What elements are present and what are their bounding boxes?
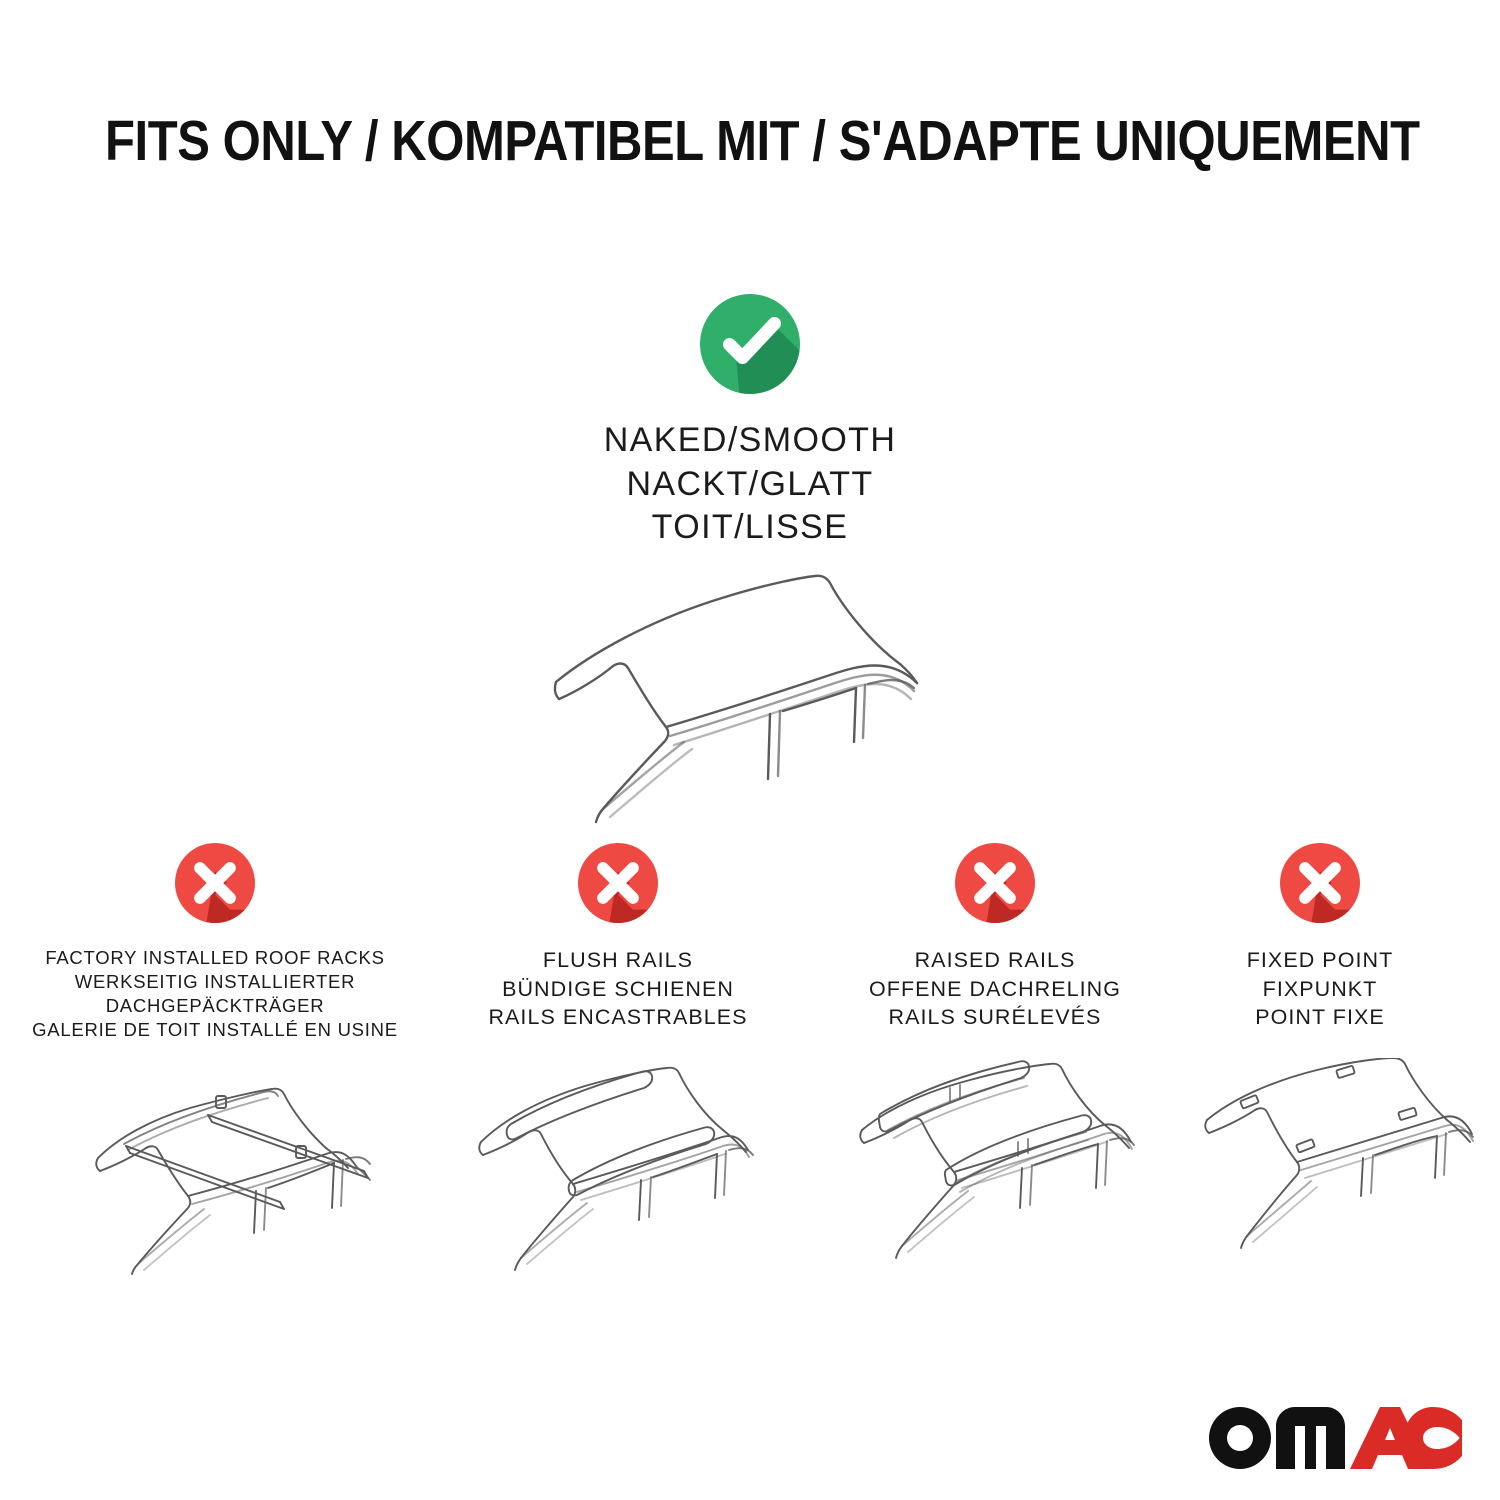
incompatible-caption: FIXED POINT FIXPUNKT POINT FIXE xyxy=(1175,946,1465,1032)
incompatible-caption: RAISED RAILS OFFENE DACHRELING RAILS SUR… xyxy=(815,946,1175,1032)
caption-line-1: FACTORY INSTALLED ROOF RACKS xyxy=(15,946,415,970)
cross-circle-icon xyxy=(15,838,415,934)
cross-circle-icon xyxy=(438,838,798,934)
factory-roof-rack-illustration xyxy=(40,1058,440,1293)
compatible-section: NAKED/SMOOTH NACKT/GLATT TOIT/LISSE xyxy=(0,290,1500,839)
caption-line-3: RAILS SURÉLEVÉS xyxy=(815,1003,1175,1032)
caption-line-4: GALERIE DE TOIT INSTALLÉ EN USINE xyxy=(15,1018,415,1042)
page-title: FITS ONLY / KOMPATIBEL MIT / S'ADAPTE UN… xyxy=(105,108,1395,174)
caption-line-2: OFFENE DACHRELING xyxy=(815,975,1175,1004)
raised-rails-illustration xyxy=(832,1058,1212,1293)
cross-circle-icon xyxy=(815,838,1175,934)
compatible-badge-wrap xyxy=(0,290,1500,403)
caption-line-1: FIXED POINT xyxy=(1175,946,1465,975)
compatible-label-line-2: NACKT/GLATT xyxy=(0,463,1500,507)
check-circle-icon xyxy=(696,290,804,403)
compatible-label-line-3: TOIT/LISSE xyxy=(0,506,1500,550)
compatible-label-line-1: NAKED/SMOOTH xyxy=(0,419,1500,463)
caption-line-2: FIXPUNKT xyxy=(1175,975,1465,1004)
smooth-roof-illustration xyxy=(0,564,1500,839)
caption-line-3: POINT FIXE xyxy=(1175,1003,1465,1032)
caption-line-3: RAILS ENCASTRABLES xyxy=(438,1003,798,1032)
incompatible-item: FLUSH RAILS BÜNDIGE SCHIENEN RAILS ENCAS… xyxy=(438,838,798,1032)
flush-rails-illustration xyxy=(445,1058,825,1293)
caption-line-1: RAISED RAILS xyxy=(815,946,1175,975)
compatible-label: NAKED/SMOOTH NACKT/GLATT TOIT/LISSE xyxy=(0,419,1500,550)
omac-logo: OMAC xyxy=(1204,1396,1464,1476)
incompatible-caption: FACTORY INSTALLED ROOF RACKS WERKSEITIG … xyxy=(15,946,415,1042)
incompatible-caption: FLUSH RAILS BÜNDIGE SCHIENEN RAILS ENCAS… xyxy=(438,946,798,1032)
caption-line-1: FLUSH RAILS xyxy=(438,946,798,975)
incompatible-item: RAISED RAILS OFFENE DACHRELING RAILS SUR… xyxy=(815,838,1175,1032)
infographic-page: FITS ONLY / KOMPATIBEL MIT / S'ADAPTE UN… xyxy=(0,0,1500,1500)
fixed-point-illustration xyxy=(1185,1058,1500,1293)
incompatible-item: FIXED POINT FIXPUNKT POINT FIXE xyxy=(1175,838,1465,1032)
illustration-row xyxy=(0,1058,1500,1298)
incompatible-item: FACTORY INSTALLED ROOF RACKS WERKSEITIG … xyxy=(15,838,415,1042)
caption-line-2: BÜNDIGE SCHIENEN xyxy=(438,975,798,1004)
caption-line-2: WERKSEITIG INSTALLIERTER xyxy=(15,970,415,994)
caption-line-3: DACHGEPÄCKTRÄGER xyxy=(15,994,415,1018)
cross-circle-icon xyxy=(1175,838,1465,934)
